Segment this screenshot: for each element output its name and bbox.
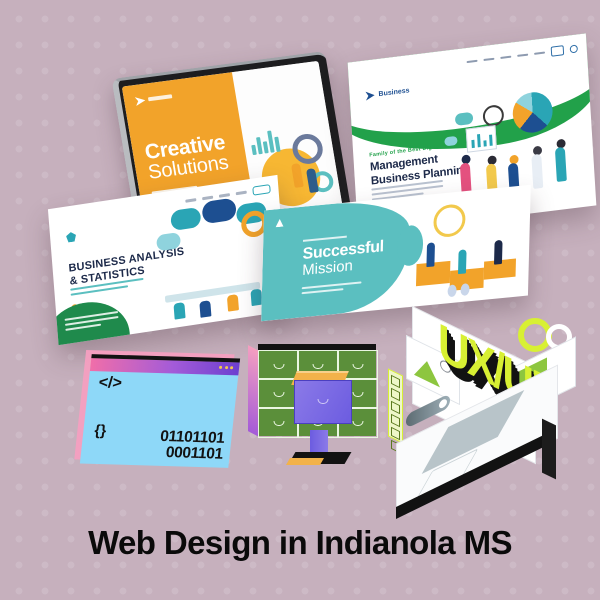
mission-card-logo <box>276 218 289 227</box>
toolbar-palette[interactable] <box>388 368 403 443</box>
analysis-card: BUSINESS ANALYSIS & STATISTICS <box>48 175 288 345</box>
creative-solutions-title: Creative Solutions <box>143 132 230 184</box>
nav-button-icon[interactable] <box>551 45 565 57</box>
analysis-card-logo <box>66 231 82 243</box>
ring-icon <box>433 203 466 238</box>
clock-icon <box>482 104 504 128</box>
pie-chart-icon <box>512 90 554 135</box>
mission-card-illustration <box>400 185 531 308</box>
illustration-canvas: Creative Solutions <box>0 0 600 600</box>
chart-card-icon <box>466 125 497 153</box>
open-drawer[interactable] <box>294 380 352 424</box>
code-window: </> {} 01101101 0001101 <box>80 354 240 468</box>
creative-solutions-logo <box>135 92 174 106</box>
code-brace-icon: {} <box>94 422 108 439</box>
window-controls[interactable] <box>219 366 233 369</box>
code-tag-icon: </> <box>98 374 123 393</box>
page-title: Web Design in Indianola MS <box>0 524 600 562</box>
cabinet-monitor <box>248 338 398 478</box>
laptop-side-edge <box>542 419 556 480</box>
mountain-icon <box>414 355 440 388</box>
triangle-logo-icon <box>276 219 284 228</box>
binary-text: 01101101 0001101 <box>158 429 226 462</box>
arrow-logo-icon <box>365 91 374 101</box>
uxui-laptop: UX/UI <box>382 318 582 490</box>
nav-dot-icon[interactable] <box>570 44 578 53</box>
chat-bubble-icon <box>170 207 201 231</box>
chat-bubble-icon <box>455 112 474 126</box>
binary-line-2: 0001101 <box>158 444 224 461</box>
star-logo-icon <box>66 231 77 242</box>
bar-chart-icon <box>248 126 280 155</box>
